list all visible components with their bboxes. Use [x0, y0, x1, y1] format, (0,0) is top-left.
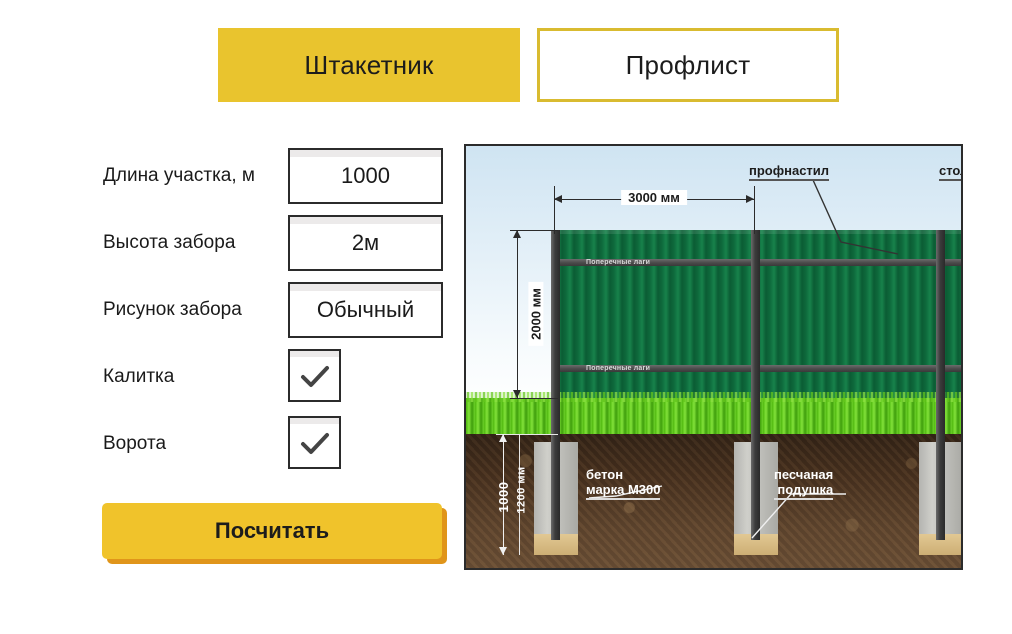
diagram-rail-label-bottom: Поперечные лаги — [586, 365, 650, 372]
input-pattern-value: Обычный — [317, 297, 414, 323]
dimension-height-label: 2000 мм — [528, 282, 543, 346]
label-gate: Ворота — [103, 416, 288, 453]
dimension-tick — [754, 186, 755, 234]
tab-bar: Штакетник Профлист — [218, 28, 839, 102]
input-height-value: 2м — [352, 230, 379, 256]
label-pattern: Рисунок забора — [103, 282, 288, 319]
callout-stolb: столб — [939, 164, 963, 181]
form-row-gate: Ворота — [103, 416, 448, 483]
callout-pesok: песчаная подушка — [774, 468, 833, 500]
calculate-button[interactable]: Посчитать — [102, 503, 442, 559]
diagram-post — [751, 230, 760, 540]
label-wicket: Калитка — [103, 349, 288, 386]
dimension-span: 3000 мм — [554, 192, 754, 206]
form-row-length: Длина участка, м 1000 — [103, 148, 448, 215]
tab-shtaketnik[interactable]: Штакетник — [218, 28, 520, 102]
callout-beton: бетон марка М300 — [586, 468, 660, 500]
label-height: Высота забора — [103, 215, 288, 252]
dimension-span-label: 3000 мм — [621, 190, 687, 205]
dimension-tick — [510, 398, 558, 399]
diagram-rail-label-top: Поперечные лаги — [586, 259, 650, 266]
diagram-grass — [466, 398, 961, 438]
calculator-form: Длина участка, м 1000 Высота забора 2м Р… — [103, 148, 448, 483]
callout-pesok-line2: подушка — [774, 483, 833, 500]
callout-beton-line1: бетон — [586, 467, 623, 482]
diagram-post — [936, 230, 945, 540]
label-length: Длина участка, м — [103, 148, 288, 185]
tab-proflist-label: Профлист — [626, 52, 751, 78]
check-icon — [298, 427, 332, 461]
checkbox-wicket[interactable] — [288, 349, 341, 402]
form-row-wicket: Калитка — [103, 349, 448, 416]
callout-pesok-line1: песчаная — [774, 467, 833, 482]
dimension-post-depth: 1000 — [496, 434, 510, 555]
callout-beton-line2: марка М300 — [586, 483, 660, 500]
dimension-hole-depth: 1200 мм — [512, 434, 526, 555]
input-length-value: 1000 — [341, 163, 390, 189]
tab-proflist[interactable]: Профлист — [537, 28, 839, 102]
diagram-post — [551, 230, 560, 540]
calculate-button-label: Посчитать — [215, 518, 329, 544]
tab-shtaketnik-label: Штакетник — [304, 52, 433, 78]
dimension-height: 2000 мм — [510, 230, 524, 398]
checkbox-gate[interactable] — [288, 416, 341, 469]
input-length[interactable]: 1000 — [288, 148, 443, 204]
form-row-height: Высота забора 2м — [103, 215, 448, 282]
dimension-post-depth-label: 1000 — [496, 481, 511, 512]
check-icon — [298, 360, 332, 394]
input-height[interactable]: 2м — [288, 215, 443, 271]
callout-profnastil: профнастил — [749, 164, 829, 181]
form-row-pattern: Рисунок забора Обычный — [103, 282, 448, 349]
dimension-hole-depth-label: 1200 мм — [516, 466, 528, 513]
fence-diagram: Поперечные лаги Поперечные лаги 3000 мм — [464, 144, 963, 570]
input-pattern[interactable]: Обычный — [288, 282, 443, 338]
